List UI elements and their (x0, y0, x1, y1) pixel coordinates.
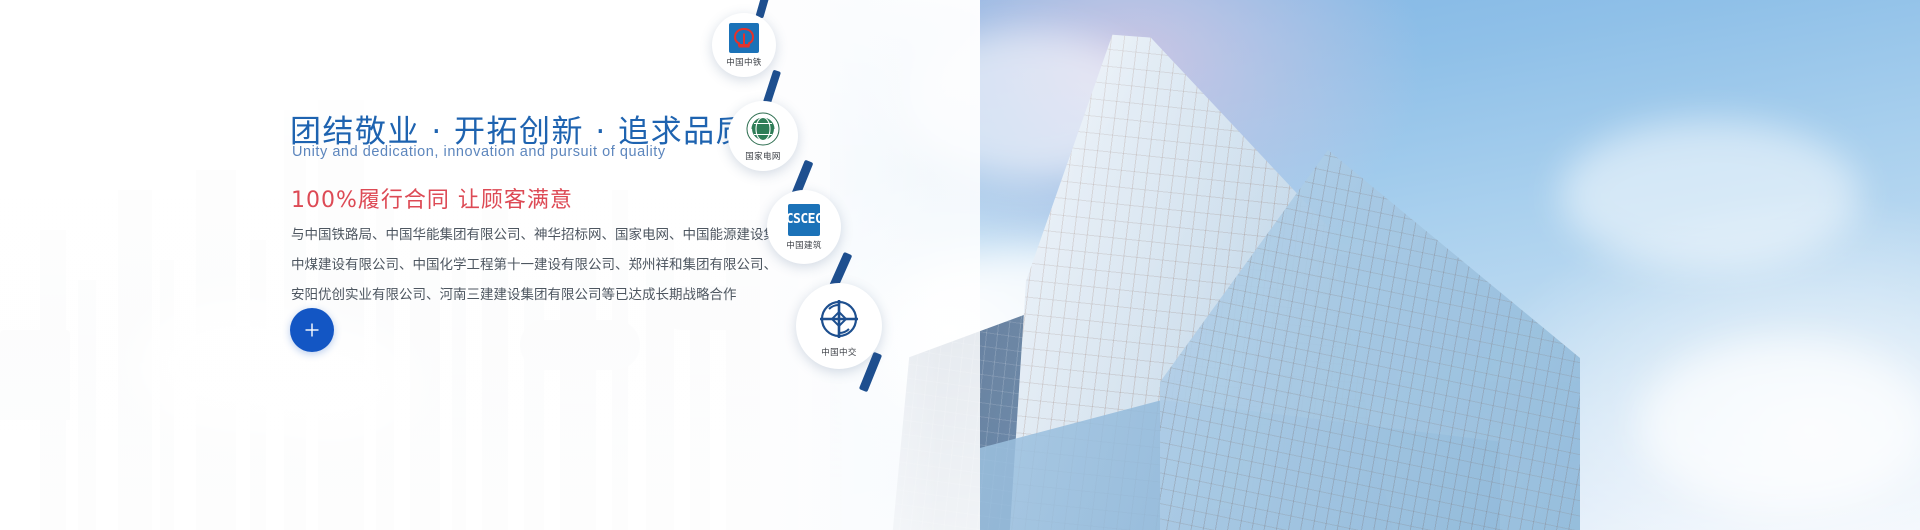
partner-badge-label: 中国中交 (821, 346, 857, 358)
partner-badge-cscec[interactable]: CSCEC 中国建筑 (767, 190, 841, 264)
hero-banner: 团结敬业 · 开拓创新 · 追求品质 Unity and dedication,… (0, 0, 1920, 530)
partner-badge-label: 中国中铁 (726, 56, 762, 68)
more-button[interactable] (290, 308, 334, 352)
skyscraper-photo (830, 0, 1920, 530)
banner-subheadline: Unity and dedication, innovation and pur… (292, 144, 666, 160)
cscec-logo-icon: CSCEC (788, 204, 820, 236)
partner-badge-label: 中国建筑 (786, 239, 822, 251)
partner-badge-china-railway[interactable]: 中国中铁 (712, 13, 776, 77)
state-grid-logo-icon (745, 111, 781, 147)
partner-badge-cccc[interactable]: 中国中交 (796, 283, 882, 369)
partner-badge-chain: 中国中铁 国家电网 CSCEC 中国建筑 (690, 0, 950, 530)
china-railway-logo-icon (729, 23, 759, 53)
plus-icon (303, 321, 321, 339)
cscec-mark: CSCEC (786, 212, 823, 227)
partner-badge-label: 国家电网 (745, 150, 781, 162)
cccc-logo-icon (815, 295, 863, 343)
banner-accent-heading: 100%履行合同 让顾客满意 (291, 182, 573, 214)
partner-badge-state-grid[interactable]: 国家电网 (728, 101, 798, 171)
chain-connector (763, 70, 781, 105)
